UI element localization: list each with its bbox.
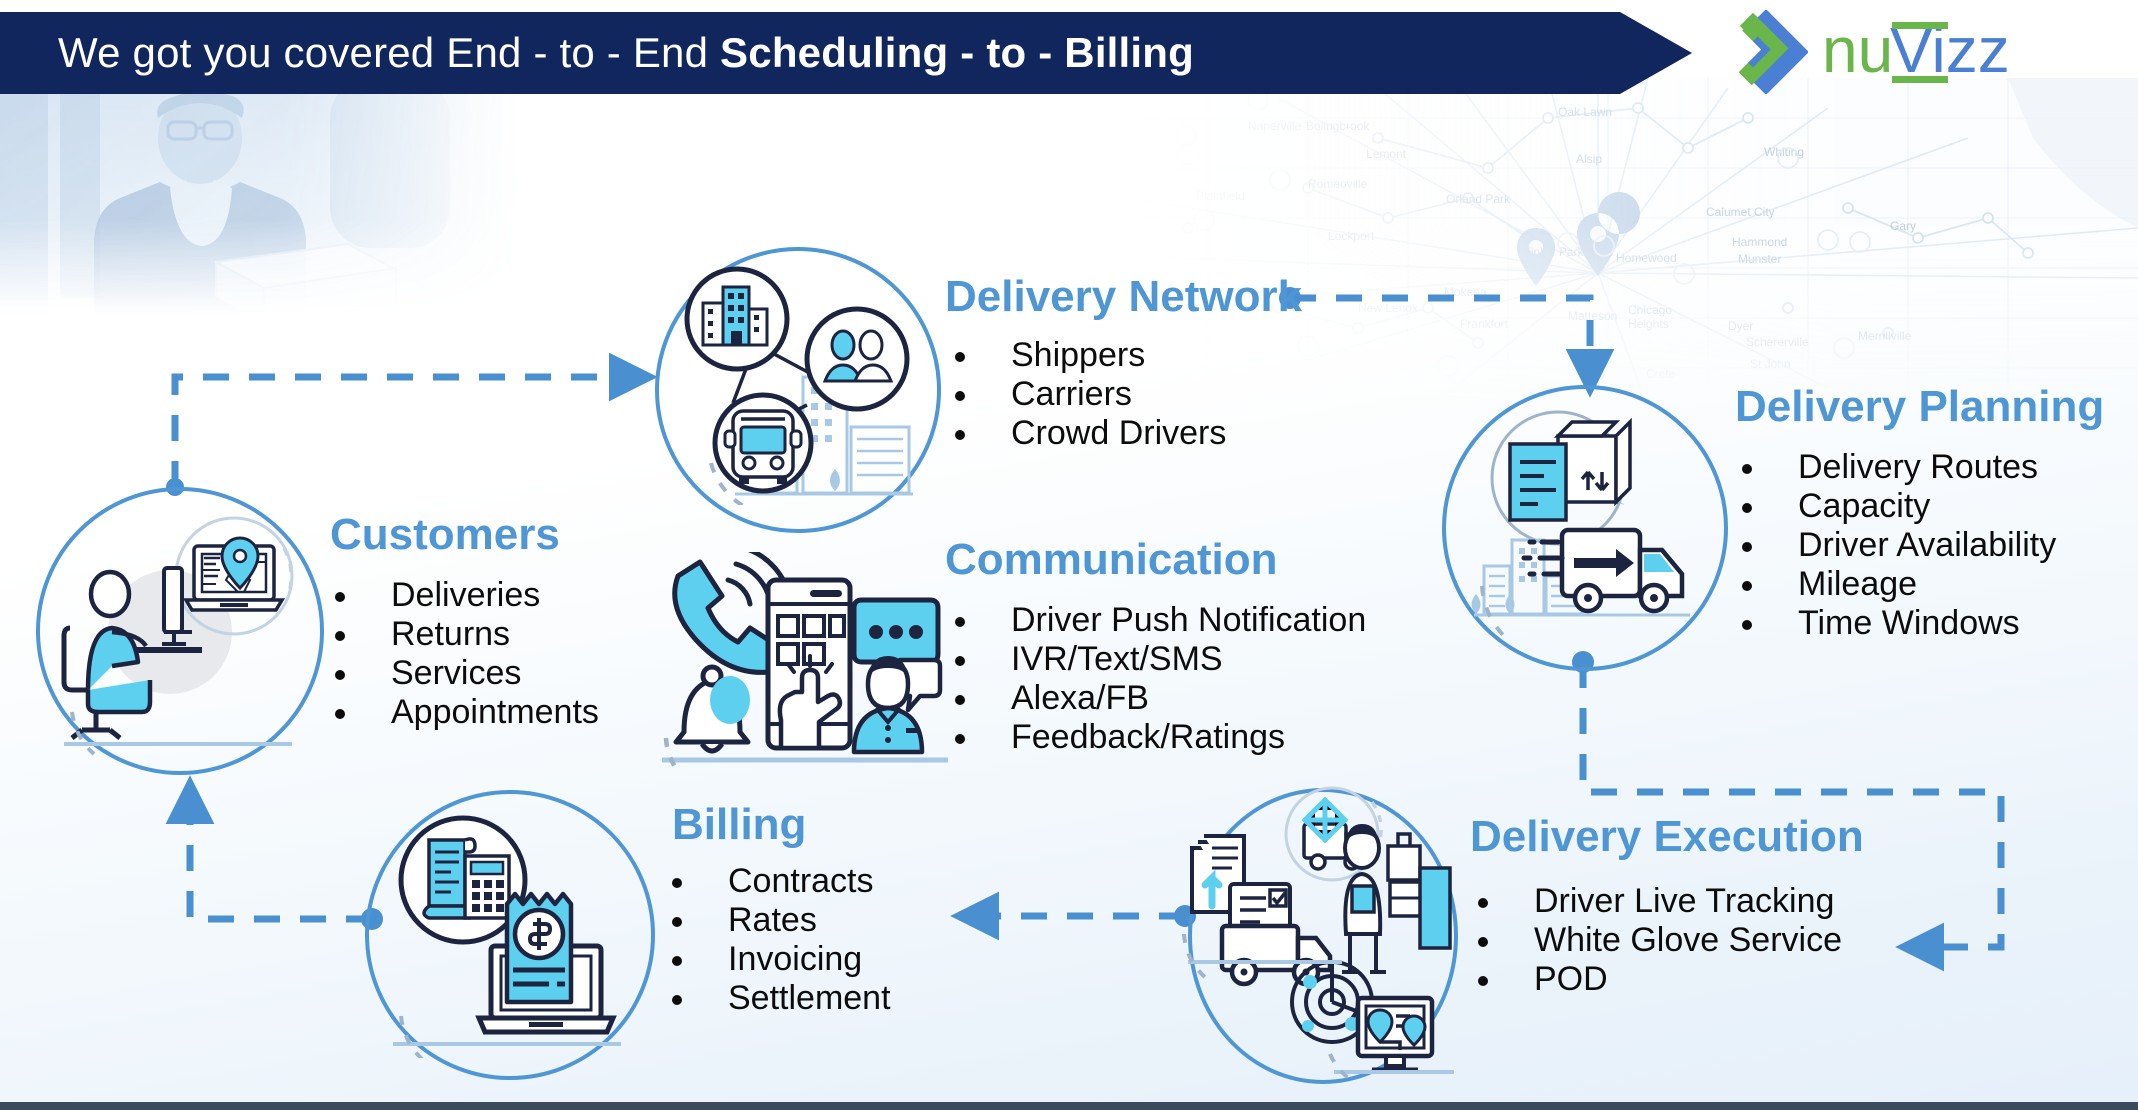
billing-title: Billing xyxy=(672,800,806,850)
bullet-text: Carriers xyxy=(1011,375,1132,414)
bullet-dot xyxy=(672,917,682,927)
list-item: White Glove Service xyxy=(1478,921,1842,960)
delivery-execution-bullets: Driver Live Tracking White Glove Service… xyxy=(1478,882,1842,999)
list-item: Driver Live Tracking xyxy=(1478,882,1842,921)
billing-bullets: Contracts Rates Invoicing Settlement xyxy=(672,862,891,1018)
bullet-dot xyxy=(1478,898,1488,908)
bullet-dot xyxy=(335,709,345,719)
bullet-text: Feedback/Ratings xyxy=(1011,718,1285,757)
customers-title: Customers xyxy=(330,510,560,560)
list-item: Alexa/FB xyxy=(955,679,1366,718)
bullet-dot xyxy=(955,695,965,705)
bullet-text: Rates xyxy=(728,901,817,940)
bullet-dot xyxy=(955,352,965,362)
bullet-dot xyxy=(672,956,682,966)
communication-phone-chat-bell-icon xyxy=(662,552,952,772)
bullet-text: Driver Live Tracking xyxy=(1534,882,1834,921)
list-item: Mileage xyxy=(1742,565,2056,604)
bullet-dot xyxy=(1742,620,1752,630)
bullet-text: POD xyxy=(1534,960,1608,999)
list-item: Feedback/Ratings xyxy=(955,718,1366,757)
list-item: Returns xyxy=(335,615,599,654)
bullet-text: Contracts xyxy=(728,862,874,901)
nuvizz-diamond-icon xyxy=(1724,10,1808,94)
bullet-text: Deliveries xyxy=(391,576,540,615)
list-item: Driver Availability xyxy=(1742,526,2056,565)
bullet-text: Delivery Routes xyxy=(1798,448,2038,487)
bullet-dot xyxy=(1742,503,1752,513)
communication-bullets: Driver Push Notification IVR/Text/SMS Al… xyxy=(955,601,1366,757)
logo-text-nu: nu xyxy=(1822,14,1893,86)
header-banner: We got you covered End - to - End Schedu… xyxy=(0,12,1692,94)
nuvizz-wordmark: nu Vizz xyxy=(1822,14,2112,90)
list-item: Appointments xyxy=(335,693,599,732)
title-plain: We got you covered End - to - End xyxy=(58,29,720,76)
bullet-dot xyxy=(1742,464,1752,474)
bullet-dot xyxy=(335,670,345,680)
bullet-dot xyxy=(955,734,965,744)
list-item: Crowd Drivers xyxy=(955,414,1226,453)
bullet-dot xyxy=(1478,976,1488,986)
delivery-planning-title: Delivery Planning xyxy=(1735,382,2104,432)
bullet-text: Settlement xyxy=(728,979,891,1018)
planning-clipboard-truck-icon xyxy=(1462,400,1704,650)
list-item: Driver Push Notification xyxy=(955,601,1366,640)
bullet-dot xyxy=(672,995,682,1005)
nuvizz-logo[interactable]: nu Vizz xyxy=(1724,8,2114,96)
bullet-dot xyxy=(955,430,965,440)
bullet-dot xyxy=(955,617,965,627)
bullet-text: Mileage xyxy=(1798,565,1917,604)
bullet-text: Returns xyxy=(391,615,510,654)
bullet-text: Driver Availability xyxy=(1798,526,2056,565)
delivery-network-bullets: Shippers Carriers Crowd Drivers xyxy=(955,336,1226,453)
list-item: POD xyxy=(1478,960,1842,999)
slide-canvas: Bolingbrook Lemont Romeoville Plainfield… xyxy=(0,0,2138,1110)
list-item: Settlement xyxy=(672,979,891,1018)
list-item: Time Windows xyxy=(1742,604,2056,643)
bullet-text: Driver Push Notification xyxy=(1011,601,1366,640)
customers-bullets: Deliveries Returns Services Appointments xyxy=(335,576,599,732)
list-item: Services xyxy=(335,654,599,693)
bullet-text: Invoicing xyxy=(728,940,862,979)
bullet-dot xyxy=(335,631,345,641)
list-item: Contracts xyxy=(672,862,891,901)
delivery-network-title: Delivery Network xyxy=(945,272,1302,322)
bullet-dot xyxy=(1478,937,1488,947)
bullet-text: IVR/Text/SMS xyxy=(1011,640,1223,679)
network-buildings-people-bus-icon xyxy=(675,265,915,505)
page-title: We got you covered End - to - End Schedu… xyxy=(0,29,1194,77)
bullet-text: Time Windows xyxy=(1798,604,2020,643)
bullet-text: Shippers xyxy=(1011,336,1145,375)
list-item: Rates xyxy=(672,901,891,940)
title-bold: Scheduling - to - Billing xyxy=(720,29,1194,76)
bullet-text: Capacity xyxy=(1798,487,1930,526)
list-item: Delivery Routes xyxy=(1742,448,2056,487)
footer-bar xyxy=(0,1102,2138,1110)
billing-invoice-calculator-laptop-icon xyxy=(385,808,635,1058)
bullet-text: Alexa/FB xyxy=(1011,679,1149,718)
bullet-text: White Glove Service xyxy=(1534,921,1842,960)
delivery-planning-bullets: Delivery Routes Capacity Driver Availabi… xyxy=(1742,448,2056,643)
list-item: Invoicing xyxy=(672,940,891,979)
bullet-dot xyxy=(955,656,965,666)
delivery-execution-title: Delivery Execution xyxy=(1470,812,1864,862)
bullet-text: Services xyxy=(391,654,521,693)
list-item: Capacity xyxy=(1742,487,2056,526)
bullet-dot xyxy=(955,391,965,401)
bullet-text: Crowd Drivers xyxy=(1011,414,1226,453)
bullet-dot xyxy=(672,878,682,888)
list-item: Shippers xyxy=(955,336,1226,375)
list-item: IVR/Text/SMS xyxy=(955,640,1366,679)
list-item: Deliveries xyxy=(335,576,599,615)
execution-truck-courier-tracking-icon xyxy=(1182,786,1462,1082)
bullet-dot xyxy=(1742,542,1752,552)
bullet-text: Appointments xyxy=(391,693,599,732)
bullet-dot xyxy=(335,592,345,602)
list-item: Carriers xyxy=(955,375,1226,414)
communication-title: Communication xyxy=(945,535,1277,585)
bullet-dot xyxy=(1742,581,1752,591)
customer-desk-laptop-map-icon xyxy=(52,500,302,756)
